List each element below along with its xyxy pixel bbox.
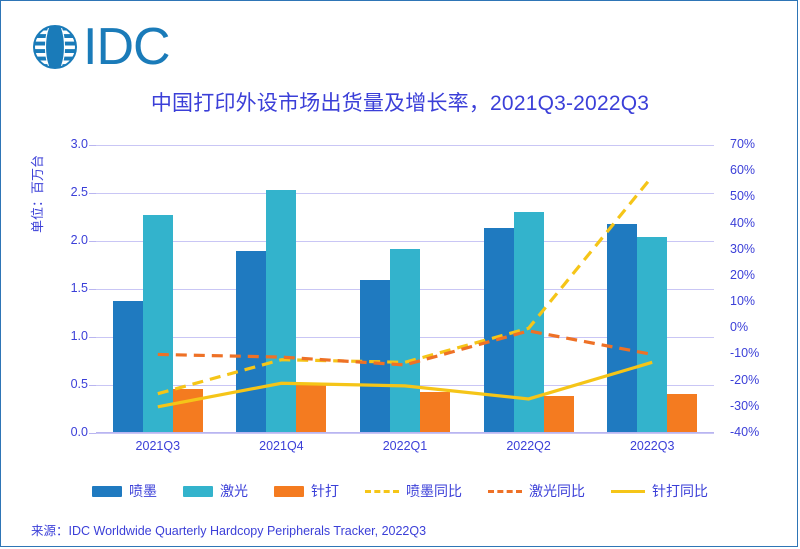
legend-swatch xyxy=(488,490,522,493)
y2-axis-tick-label: -20% xyxy=(730,373,780,387)
idc-globe-icon xyxy=(31,23,79,71)
legend-label: 喷墨 xyxy=(129,481,157,501)
y-axis-tick-label: 0.0 xyxy=(42,425,88,439)
y-axis-tick-mark xyxy=(89,145,96,146)
y-axis-tick-mark xyxy=(89,241,96,242)
legend-label: 针打同比 xyxy=(652,481,708,501)
x-axis-tick-label: 2021Q3 xyxy=(96,439,220,453)
plot-canvas xyxy=(96,145,714,433)
y-axis-tick-label: 2.0 xyxy=(42,233,88,247)
legend-swatch xyxy=(365,490,399,493)
x-axis-tick-label: 2022Q3 xyxy=(590,439,714,453)
source-note: 来源：IDC Worldwide Quarterly Hardcopy Peri… xyxy=(31,520,426,539)
y2-axis-tick-label: 60% xyxy=(730,163,780,177)
y2-axis-tick-label: -30% xyxy=(730,399,780,413)
chart-legend: 喷墨激光针打喷墨同比激光同比针打同比 xyxy=(1,481,799,501)
y-axis-tick-label: 1.5 xyxy=(42,281,88,295)
y2-axis-tick-label: 70% xyxy=(730,137,780,151)
y-axis-tick-mark xyxy=(89,385,96,386)
legend-label: 针打 xyxy=(311,481,339,501)
y2-axis-tick-label: 30% xyxy=(730,242,780,256)
line-激光同比[interactable] xyxy=(158,331,652,365)
legend-swatch xyxy=(611,490,645,493)
legend-item-针打同比[interactable]: 针打同比 xyxy=(611,481,708,501)
y2-axis-tick-label: -40% xyxy=(730,425,780,439)
y-axis-tick-label: 0.5 xyxy=(42,377,88,391)
legend-swatch xyxy=(183,486,213,497)
legend-item-针打[interactable]: 针打 xyxy=(274,481,339,501)
legend-swatch xyxy=(92,486,122,497)
y-axis-tick-mark xyxy=(89,193,96,194)
legend-item-激光同比[interactable]: 激光同比 xyxy=(488,481,585,501)
y2-axis-tick-label: 10% xyxy=(730,294,780,308)
y-axis-tick-mark xyxy=(89,433,96,434)
x-axis-tick-label: 2022Q2 xyxy=(467,439,591,453)
y-axis-tick-label: 1.0 xyxy=(42,329,88,343)
gridline xyxy=(96,433,714,434)
y-axis-tick-mark xyxy=(89,289,96,290)
legend-label: 激光 xyxy=(220,481,248,501)
idc-wordmark: IDC xyxy=(83,23,170,71)
y2-axis-tick-label: 50% xyxy=(730,189,780,203)
legend-label: 激光同比 xyxy=(529,481,585,501)
idc-logo: IDC xyxy=(31,23,170,71)
y-axis-tick-label: 2.5 xyxy=(42,185,88,199)
y2-axis-tick-label: -10% xyxy=(730,346,780,360)
chart-title: 中国打印外设市场出货量及增长率，2021Q3-2022Q3 xyxy=(1,87,799,117)
line-喷墨同比[interactable] xyxy=(158,176,652,393)
legend-item-喷墨同比[interactable]: 喷墨同比 xyxy=(365,481,462,501)
legend-swatch xyxy=(274,486,304,497)
x-axis-tick-label: 2022Q1 xyxy=(343,439,467,453)
chart-card: IDC 中国打印外设市场出货量及增长率，2021Q3-2022Q3 单位：百万台… xyxy=(0,0,798,547)
y2-axis-tick-label: 20% xyxy=(730,268,780,282)
y2-axis-tick-label: 40% xyxy=(730,216,780,230)
legend-item-喷墨[interactable]: 喷墨 xyxy=(92,481,157,501)
x-axis-tick-label: 2021Q4 xyxy=(220,439,344,453)
y-axis-tick-mark xyxy=(89,337,96,338)
y-axis-tick-label: 3.0 xyxy=(42,137,88,151)
line-series-overlay xyxy=(96,145,714,433)
legend-item-激光[interactable]: 激光 xyxy=(183,481,248,501)
legend-label: 喷墨同比 xyxy=(406,481,462,501)
line-针打同比[interactable] xyxy=(158,362,652,407)
y2-axis-tick-label: 0% xyxy=(730,320,780,334)
plot-area: 3.02.52.01.51.00.50.070%60%50%40%30%20%1… xyxy=(96,145,714,433)
